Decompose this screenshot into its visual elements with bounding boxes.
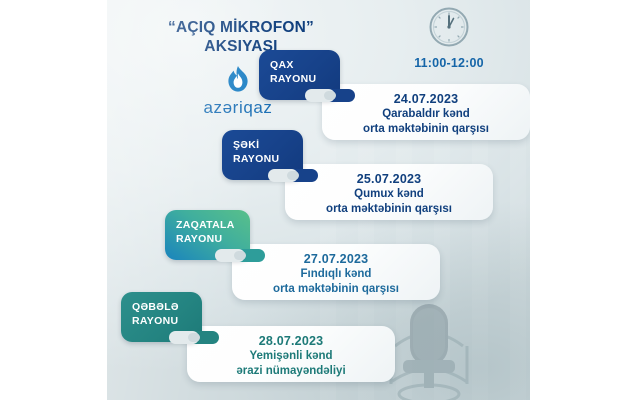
event-place-line-2: orta məktəbinin qarşısı bbox=[334, 122, 518, 137]
chain-link-connector bbox=[167, 326, 221, 355]
event-place-line-2: ərazi nümayəndəliyi bbox=[199, 364, 383, 379]
district-tag-line-1: QƏBƏLƏ bbox=[132, 301, 179, 313]
event-date: 24.07.2023 bbox=[334, 91, 518, 107]
screenshot-canvas: “AÇIQ MİKROFON” AKSIYASI azəriqaz bbox=[0, 0, 637, 400]
chain-link-connector bbox=[213, 244, 267, 273]
time-range-label: 11:00-12:00 bbox=[395, 56, 503, 70]
event-place-line-2: orta məktəbinin qarşısı bbox=[297, 202, 481, 217]
title-line-1: “AÇIQ MİKROFON” bbox=[115, 18, 367, 37]
clock-icon bbox=[428, 35, 470, 52]
event-place-line-2: orta məktəbinin qarşısı bbox=[244, 282, 428, 297]
event-place-line-1: Qarabaldır kənd bbox=[334, 107, 518, 122]
event-date: 28.07.2023 bbox=[199, 333, 383, 349]
district-tag-line-1: QAX bbox=[270, 59, 294, 71]
event-place-line-1: Qumux kənd bbox=[297, 187, 481, 202]
chain-link-connector bbox=[266, 164, 320, 193]
schedule-time: 11:00-12:00 bbox=[395, 6, 503, 70]
district-tag-line-1: ŞƏKİ bbox=[233, 139, 259, 151]
event-date: 27.07.2023 bbox=[244, 251, 428, 267]
event-place-line-1: Fındıqlı kənd bbox=[244, 267, 428, 282]
event-place-line-1: Yemişənli kənd bbox=[199, 349, 383, 364]
azeriqaz-wordmark: azəriqaz bbox=[203, 98, 272, 117]
poster-image: “AÇIQ MİKROFON” AKSIYASI azəriqaz bbox=[107, 0, 530, 400]
district-tag-line-1: ZAQATALA bbox=[176, 219, 235, 231]
event-date: 25.07.2023 bbox=[297, 171, 481, 187]
chain-link-connector bbox=[303, 84, 357, 113]
